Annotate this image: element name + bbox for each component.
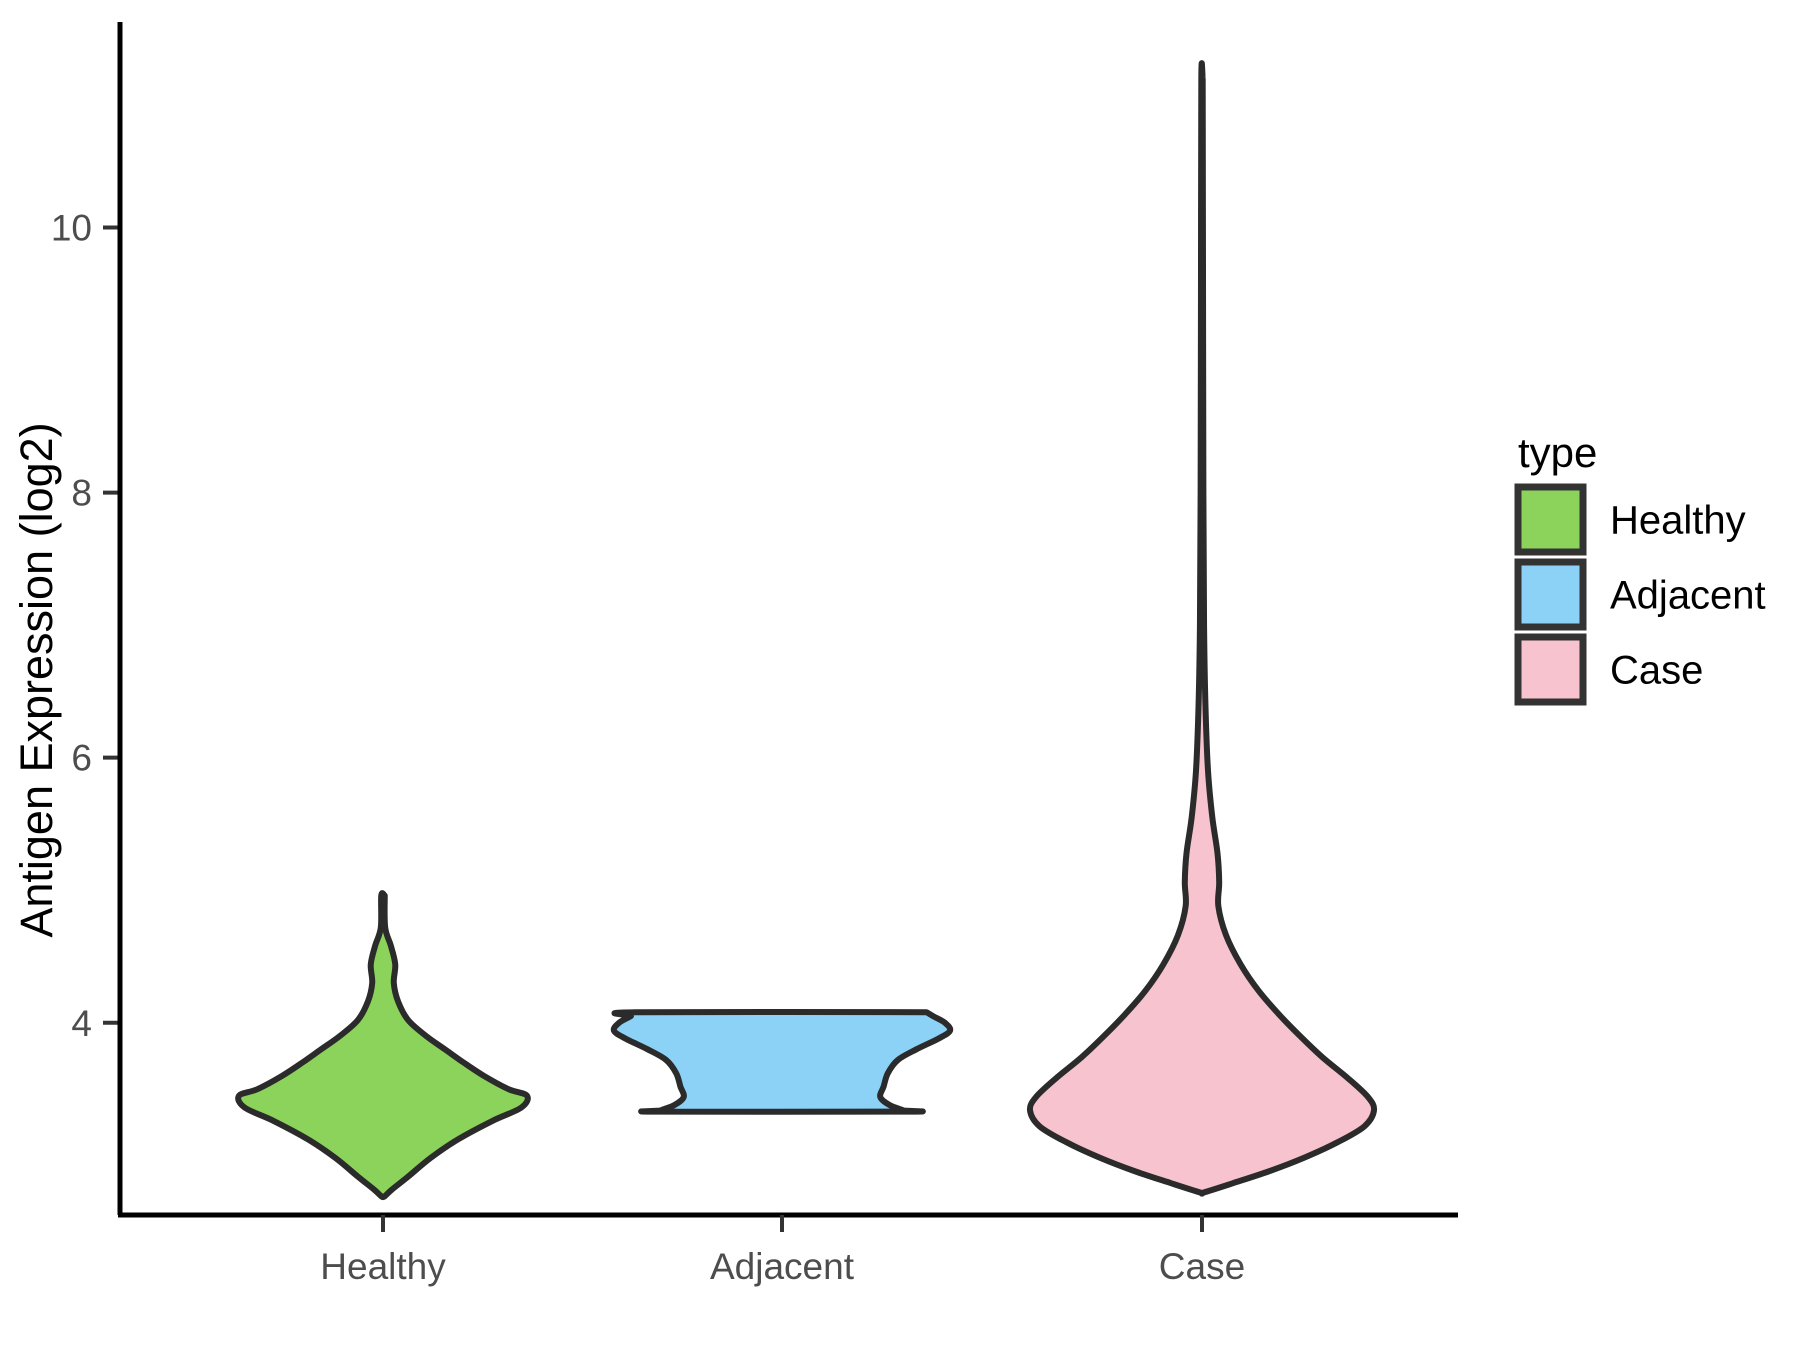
violin-group xyxy=(238,63,1374,1197)
legend-swatch-adjacent[interactable] xyxy=(1518,562,1583,627)
legend-swatch-case[interactable] xyxy=(1518,637,1583,702)
legend-label-adjacent: Adjacent xyxy=(1610,574,1766,618)
x-axis-ticks: HealthyAdjacentCase xyxy=(320,1215,1245,1287)
violin-healthy xyxy=(238,893,528,1197)
x-tick-label: Case xyxy=(1159,1246,1245,1287)
legend-items: HealthyAdjacentCase xyxy=(1518,487,1766,702)
y-tick-label: 8 xyxy=(71,473,92,514)
x-tick-label: Healthy xyxy=(320,1246,446,1287)
violin-plot-figure: Antigen Expression (log2) 10864 HealthyA… xyxy=(0,0,1800,1350)
legend-label-healthy: Healthy xyxy=(1610,499,1746,543)
y-axis-title: Antigen Expression (log2) xyxy=(11,422,62,937)
y-tick-label: 4 xyxy=(71,1003,92,1044)
y-tick-label: 6 xyxy=(71,738,92,779)
chart-root: Antigen Expression (log2) 10864 HealthyA… xyxy=(0,0,1800,1350)
y-tick-label: 10 xyxy=(51,207,92,248)
violin-adjacent xyxy=(614,1012,950,1112)
legend-swatch-healthy[interactable] xyxy=(1518,487,1583,552)
x-tick-label: Adjacent xyxy=(710,1246,855,1287)
legend-label-case: Case xyxy=(1610,649,1703,693)
legend-title: type xyxy=(1518,429,1597,476)
violin-case xyxy=(1030,63,1374,1194)
legend: type HealthyAdjacentCase xyxy=(1518,429,1766,702)
